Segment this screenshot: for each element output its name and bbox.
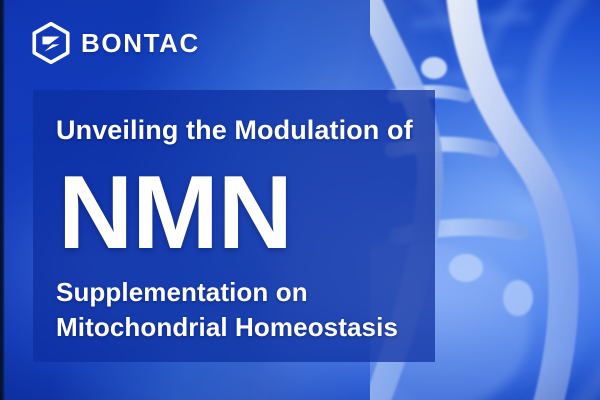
headline-line-2: Supplementation on — [56, 279, 308, 305]
hexagon-z-mark-icon — [30, 22, 72, 64]
brand-name: BONTAC — [81, 30, 200, 56]
left-edge-border — [0, 0, 5, 400]
headline-line-1: Unveiling the Modulation of — [56, 117, 413, 144]
headline-line-3: Mitochondrial Homeostasis — [56, 314, 398, 340]
promo-banner: BONTAC Unveiling the Modulation of NMN S… — [0, 0, 600, 400]
brand-logo[interactable]: BONTAC — [30, 22, 200, 64]
headline-emphasis-nmn: NMN — [58, 161, 292, 265]
